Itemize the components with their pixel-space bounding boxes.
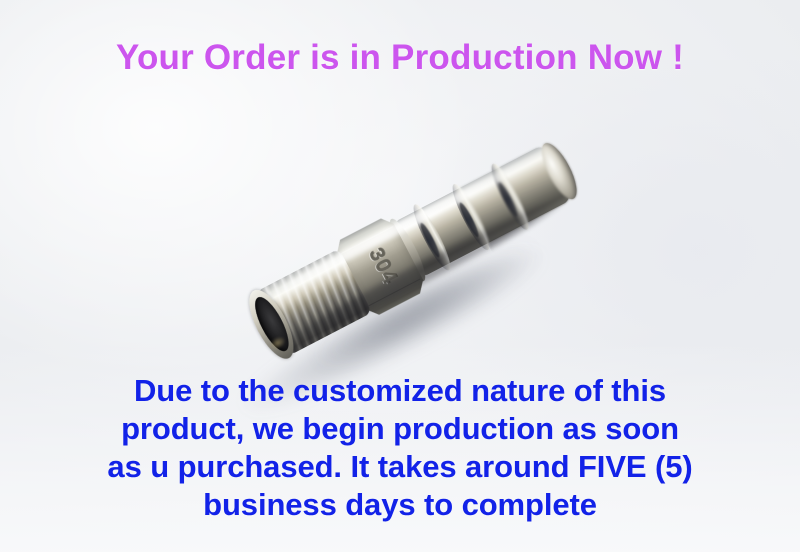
- production-notice-text: Due to the customized nature of this pro…: [0, 372, 800, 524]
- notice-line: as u purchased. It takes around FIVE (5): [0, 448, 800, 486]
- notice-line: business days to complete: [0, 486, 800, 524]
- notice-line: product, we begin production as soon: [0, 410, 800, 448]
- promo-image-canvas: Your Order is in Production Now ! 304: [0, 0, 800, 552]
- headline-text: Your Order is in Production Now !: [0, 36, 800, 80]
- notice-line: Due to the customized nature of this: [0, 372, 800, 410]
- product-photo: 304: [180, 135, 640, 385]
